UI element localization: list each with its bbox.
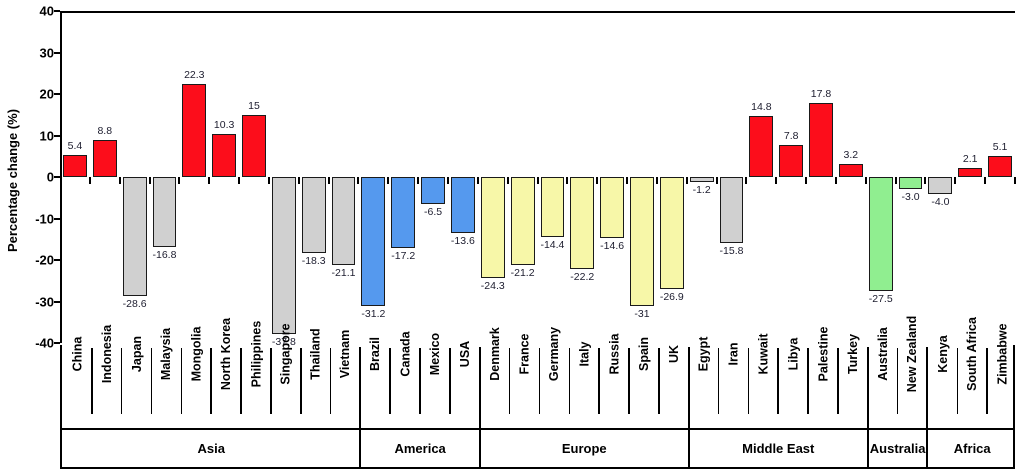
group-separator [926,347,928,430]
bar[interactable] [839,164,863,177]
x-tick-mark [537,177,539,184]
group-label: Europe [480,430,689,467]
bar[interactable] [242,115,266,177]
country-label: Kenya [927,345,957,428]
x-tick-mark [357,177,359,184]
bar-slot[interactable]: -26.9 [657,11,687,343]
group-label: America [360,430,479,467]
country-label-text: Singapore [279,323,293,384]
x-tick-mark [626,177,628,184]
country-label-text: Iran [726,343,740,366]
x-tick-mark [686,177,688,184]
bar[interactable] [272,177,296,334]
x-tick-mark [149,177,151,184]
country-label-text: Japan [130,336,144,372]
bar-slot[interactable]: -22.2 [567,11,597,343]
bar-value-label: 5.4 [68,140,83,152]
bar[interactable] [153,177,177,247]
country-label-text: Thailand [309,328,323,379]
x-tick-mark [447,177,449,184]
bar[interactable] [720,177,744,243]
country-label: Palestine [808,345,838,428]
country-label: New Zealand [898,345,928,428]
y-axis-title: Percentage change (%) [2,60,24,300]
x-tick-mark [596,177,598,184]
bar[interactable] [660,177,684,289]
group-separator [359,347,361,430]
country-label: South Africa [957,345,987,428]
bar[interactable] [899,177,923,189]
x-tick-mark [507,177,509,184]
bar-value-label: 5.1 [993,141,1008,153]
bar-slot[interactable]: 17.8 [806,11,836,343]
group-label: Africa [927,430,1017,467]
bar-value-label: -31.2 [361,308,385,320]
y-tick-label: -10 [35,211,54,226]
bar[interactable] [63,155,87,177]
bar[interactable] [93,140,117,177]
bar-slot[interactable]: 3.2 [836,11,866,343]
bar-value-label: -26.9 [660,291,684,303]
bar[interactable] [361,177,385,306]
bar-value-label: -16.8 [152,249,176,261]
bar-slot[interactable]: -1.2 [687,11,717,343]
x-tick-mark [924,177,926,184]
country-label: USA [450,345,480,428]
bar[interactable] [332,177,356,265]
bar-value-label: 8.8 [97,125,112,137]
country-label-text: Spain [637,337,651,371]
country-label: Vietnam [331,345,361,428]
x-tick-mark [895,177,897,184]
bar-slot[interactable]: -18.3 [299,11,329,343]
country-label-text: Canada [398,331,412,376]
country-label: Canada [390,345,420,428]
country-label: Mexico [420,345,450,428]
bar-slot[interactable]: -17.2 [388,11,418,343]
bar-slot[interactable]: -13.6 [448,11,478,343]
bar[interactable] [809,103,833,177]
country-label: North Korea [211,345,241,428]
group-label: Middle East [689,430,868,467]
bar-value-label: -4.0 [931,196,949,208]
country-label: UK [659,345,689,428]
bar-value-label: -1.2 [693,184,711,196]
country-label: Egypt [689,345,719,428]
x-tick-mark [238,177,240,184]
country-label: Denmark [480,345,510,428]
country-label: Kuwait [748,345,778,428]
bar-value-label: 10.3 [214,119,234,131]
bar-slot[interactable]: -31.2 [358,11,388,343]
country-label: Turkey [838,345,868,428]
country-label: Mongolia [181,345,211,428]
bar-value-label: -15.8 [720,245,744,257]
bar-value-label: 22.3 [184,69,204,81]
country-label-band: ChinaIndonesiaJapanMalaysiaMongoliaNorth… [60,345,1015,428]
bar-chart: Percentage change (%) 403020100-10-20-30… [0,0,1020,471]
x-tick-mark [89,177,91,184]
bar-value-label: -6.5 [424,206,442,218]
bar-slot[interactable]: 5.1 [985,11,1015,343]
country-label-text: North Korea [219,318,233,390]
country-label: Germany [540,345,570,428]
bar[interactable] [928,177,952,194]
bar-slot[interactable]: -28.6 [120,11,150,343]
y-tick-label: 10 [40,128,54,143]
country-label: Malaysia [152,345,182,428]
bar-slot[interactable]: -6.5 [418,11,448,343]
y-tick-label: -20 [35,253,54,268]
bar[interactable] [123,177,147,296]
bar-value-label: -21.1 [332,267,356,279]
bar[interactable] [511,177,535,265]
x-tick-mark [1014,177,1016,184]
country-label: Russia [599,345,629,428]
bar-slot[interactable]: -37.8 [269,11,299,343]
country-label-text: Denmark [488,327,502,381]
bar-slot[interactable]: 22.3 [179,11,209,343]
x-tick-mark [954,177,956,184]
country-label-text: Mexico [428,333,442,375]
bar[interactable] [869,177,893,291]
x-tick-mark [716,177,718,184]
bar-slot[interactable]: -27.5 [866,11,896,343]
bar[interactable] [690,177,714,182]
bar-slot[interactable]: -14.4 [538,11,568,343]
bar-slot[interactable]: -16.8 [150,11,180,343]
x-tick-mark [178,177,180,184]
bar[interactable] [988,156,1012,177]
bar-value-label: 17.8 [811,88,831,100]
bar[interactable] [182,84,206,177]
country-label-text: Russia [607,334,621,375]
country-label: Brazil [360,345,390,428]
country-label-text: UK [667,345,681,363]
country-label-text: Indonesia [100,325,114,383]
bar[interactable] [212,134,236,177]
country-label: Indonesia [92,345,122,428]
bar[interactable] [481,177,505,278]
group-label-band: AsiaAmericaEuropeMiddle EastAustraliaAfr… [60,428,1015,469]
country-label-text: Italy [577,341,591,366]
country-label-text: Palestine [816,327,830,382]
bar-value-label: -18.3 [302,255,326,267]
country-label-text: France [518,334,532,375]
country-label-text: Egypt [697,337,711,372]
group-label: Asia [62,430,360,467]
group-separator [867,347,869,430]
x-tick-mark [984,177,986,184]
x-tick-mark [208,177,210,184]
bar[interactable] [421,177,445,204]
bar-slot[interactable]: 5.4 [60,11,90,343]
country-label: Japan [122,345,152,428]
x-tick-mark [566,177,568,184]
country-label-text: Mongolia [189,327,203,382]
bar-value-label: 15 [248,100,260,112]
country-label-text: Libya [786,338,800,371]
group-label: Australia [868,430,928,467]
country-label-text: Zimbabwe [995,323,1009,384]
country-label-text: Philippines [249,321,263,388]
y-tick-label: 0 [47,170,54,185]
bar-slot[interactable]: -21.2 [508,11,538,343]
bar-value-label: -14.4 [540,239,564,251]
bar[interactable] [570,177,594,269]
bar-slot[interactable]: 14.8 [746,11,776,343]
bar-slot[interactable]: 15 [239,11,269,343]
x-tick-mark [656,177,658,184]
bar-slot[interactable]: 8.8 [90,11,120,343]
y-axis-title-text: Percentage change (%) [6,108,21,251]
bar[interactable] [779,145,803,177]
bar-value-label: -14.6 [600,240,624,252]
x-tick-mark [865,177,867,184]
x-tick-mark [745,177,747,184]
country-label-text: Vietnam [339,330,353,378]
y-tick-label: 20 [40,87,54,102]
bar[interactable] [749,116,773,177]
country-label: Australia [868,345,898,428]
bar-slot[interactable]: -14.6 [597,11,627,343]
y-tick-label: 40 [40,4,54,19]
x-tick-mark [805,177,807,184]
x-tick-mark [328,177,330,184]
x-tick-mark [387,177,389,184]
country-label-text: Malaysia [159,328,173,380]
bar-value-label: -27.5 [869,293,893,305]
bar[interactable] [958,168,982,177]
country-label: Italy [569,345,599,428]
y-tick-label: -40 [35,336,54,351]
bar-slot[interactable]: 10.3 [209,11,239,343]
bar-value-label: -28.6 [123,298,147,310]
bar-value-label: 2.1 [963,153,978,165]
country-label-text: Australia [876,327,890,381]
plot-area: 403020100-10-20-30-40 5.48.8-28.6-16.822… [60,11,1015,343]
bar-value-label: -22.2 [570,271,594,283]
x-tick-mark [298,177,300,184]
country-label-text: Germany [547,327,561,381]
x-tick-mark [835,177,837,184]
bar-value-label: -24.3 [481,280,505,292]
bar-slot[interactable]: -21.1 [329,11,359,343]
country-label-text: Kenya [935,335,949,373]
country-label: Spain [629,345,659,428]
country-label: Iran [719,345,749,428]
bar[interactable] [302,177,326,253]
bar[interactable] [451,177,475,233]
x-tick-mark [477,177,479,184]
bar-value-label: -21.2 [511,267,535,279]
bar-slot[interactable]: -15.8 [717,11,747,343]
bar[interactable] [600,177,624,238]
country-label-text: South Africa [965,317,979,391]
bar-value-label: 3.2 [844,149,859,161]
country-label: France [510,345,540,428]
bar-value-label: -17.2 [391,250,415,262]
x-tick-mark [119,177,121,184]
country-label: Zimbabwe [987,345,1017,428]
country-label: Singapore [271,345,301,428]
y-tick-label: -30 [35,294,54,309]
bar-slot[interactable]: -24.3 [478,11,508,343]
country-label-text: USA [458,341,472,367]
bar-slot[interactable]: -31 [627,11,657,343]
bar-slot[interactable]: -3.0 [896,11,926,343]
group-separator [688,347,690,430]
x-tick-mark [268,177,270,184]
country-label-text: Brazil [368,337,382,371]
country-label: Libya [778,345,808,428]
bar-value-label: -31 [634,308,649,320]
bar-value-label: 7.8 [784,130,799,142]
country-label-text: Kuwait [756,334,770,375]
x-tick-mark [417,177,419,184]
bar-slot[interactable]: -4.0 [925,11,955,343]
bar-value-label: 14.8 [751,101,771,113]
country-label-text: China [70,337,84,372]
bar-value-label: -13.6 [451,235,475,247]
x-tick-mark [775,177,777,184]
bar-slot[interactable]: 2.1 [955,11,985,343]
country-label: China [62,345,92,428]
y-tick-label: 30 [40,45,54,60]
bar[interactable] [391,177,415,248]
bar[interactable] [630,177,654,306]
country-label-text: Turkey [846,334,860,374]
bar-slot[interactable]: 7.8 [776,11,806,343]
bar-value-label: -3.0 [902,191,920,203]
country-label-text: New Zealand [906,316,920,392]
country-label: Philippines [241,345,271,428]
group-separator [479,347,481,430]
country-label: Thailand [301,345,331,428]
bar[interactable] [541,177,565,237]
